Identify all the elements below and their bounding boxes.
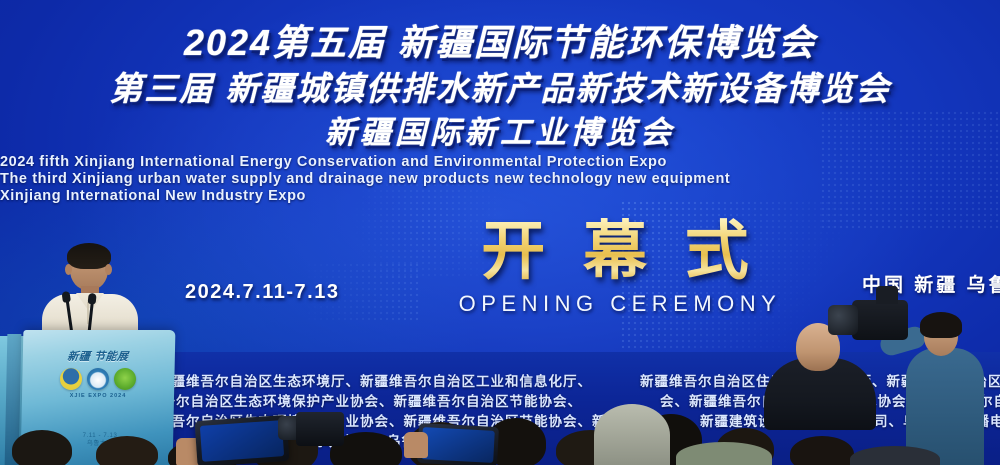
speaker-ear-left xyxy=(65,264,72,275)
ceremony-title-en: OPENING CEREMONY xyxy=(440,291,800,317)
podium-emblem-group xyxy=(44,368,152,390)
expo-subtitle-en-1: 2024 fifth Xinjiang International Energy… xyxy=(0,154,1000,171)
banner-line-left-1: 位】新疆维吾尔自治区生态环境厅、新疆维吾尔自治区工业和信息化厅、 xyxy=(128,370,592,390)
ceremony-title-cn: 开 幕 式 xyxy=(440,218,800,285)
expo-subtitle-en-3: Xinjiang International New Industry Expo xyxy=(0,188,1000,205)
audience-hand xyxy=(404,432,428,458)
audience-shoulders xyxy=(850,446,940,465)
camera-icon xyxy=(296,412,344,446)
podium-logo: 新疆 节能展 XJIE EXPO 2024 xyxy=(44,348,152,399)
expo-subtitle-en-2: The third Xinjiang urban water supply an… xyxy=(0,171,1000,188)
speaker-hair xyxy=(67,243,111,269)
audience-head xyxy=(790,436,854,465)
conference-stage-photo: 2024第五届 新疆国际节能环保博览会 第三届 新疆城镇供排水新产品新技术新设备… xyxy=(0,0,1000,465)
photographer-right-hair xyxy=(920,312,962,338)
audience-head xyxy=(12,430,72,465)
camera-icon xyxy=(852,300,908,340)
emblem-water-icon xyxy=(87,368,109,390)
podium-sub-text: XJIE EXPO 2024 xyxy=(44,393,152,399)
emblem-environment-icon xyxy=(114,368,136,390)
speaker-ear-right xyxy=(105,264,112,275)
opening-ceremony-headline: 开 幕 式 OPENING CEREMONY xyxy=(440,218,800,317)
podium-brand-text: 新疆 节能展 xyxy=(43,348,153,364)
camera-flash-icon xyxy=(876,286,898,304)
audience-shoulders xyxy=(594,404,670,465)
smartphone-recording xyxy=(417,423,499,465)
expo-title-line-3: 新疆国际新工业博览会 xyxy=(0,107,1000,152)
event-date-range: 2024.7.11-7.13 xyxy=(185,281,339,304)
banner-line-left-2: 新疆维吾尔自治区生态环境保护产业协会、新疆维吾尔自治区节能协会、 xyxy=(118,390,582,410)
expo-title-line-2: 第三届 新疆城镇供排水新产品新技术新设备博览会 xyxy=(0,62,1000,110)
audience-head xyxy=(96,436,158,465)
smartphone-recording xyxy=(195,415,290,465)
camera-lens-icon xyxy=(828,305,858,335)
expo-subtitle-english-block: 2024 fifth Xinjiang International Energy… xyxy=(0,154,1000,205)
expo-title-line-1: 2024第五届 新疆国际节能环保博览会 xyxy=(0,14,1000,66)
emblem-energy-icon xyxy=(60,368,82,390)
audience-shoulders xyxy=(676,442,772,465)
